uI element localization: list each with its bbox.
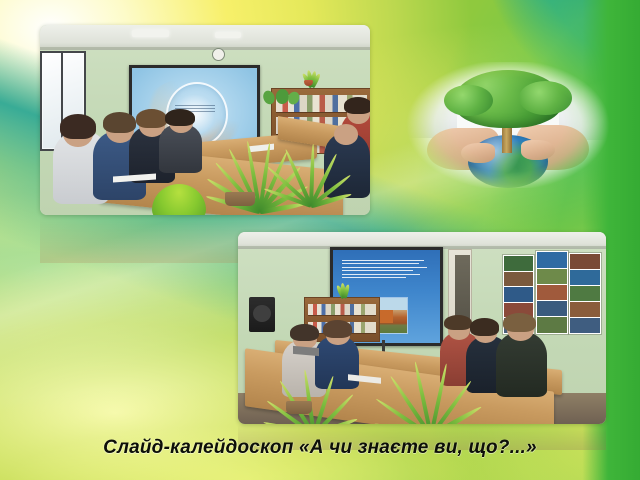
person-hair xyxy=(344,97,370,114)
person-hair xyxy=(444,315,472,330)
presentation-slide: Слайд-калейдоскоп «А чи знаєте ви, що?..… xyxy=(0,0,640,480)
person-head xyxy=(334,124,359,145)
person-seated xyxy=(496,332,548,397)
photo-classroom-left xyxy=(40,25,370,215)
ceiling-light-icon xyxy=(132,30,168,36)
classroom-scene-bottom xyxy=(238,232,606,424)
wall-poster xyxy=(536,251,567,334)
slide-text-lines xyxy=(342,260,432,281)
person-hair xyxy=(136,109,167,128)
fingers-left xyxy=(461,143,495,163)
plant-pot xyxy=(225,192,255,206)
wall-clock-icon xyxy=(212,48,225,61)
fingers-right xyxy=(521,140,555,160)
person-hair xyxy=(290,324,319,341)
photo-classroom-bottom xyxy=(238,232,606,424)
person-hair xyxy=(103,112,136,133)
person-hair xyxy=(503,313,536,332)
plant-pot xyxy=(286,401,312,414)
ceiling xyxy=(40,25,370,50)
person-hair xyxy=(323,320,352,337)
classroom-scene-left xyxy=(40,25,370,215)
photo-eco-globe xyxy=(402,62,614,188)
slide-caption: Слайд-калейдоскоп «А чи знаєте ви, що?..… xyxy=(0,437,640,459)
person-hair xyxy=(60,114,96,139)
bookshelf-row xyxy=(308,304,376,315)
ceiling-light-icon xyxy=(215,32,241,37)
person-hair xyxy=(165,109,195,126)
wall-poster xyxy=(569,253,600,334)
person-hair xyxy=(470,318,499,335)
